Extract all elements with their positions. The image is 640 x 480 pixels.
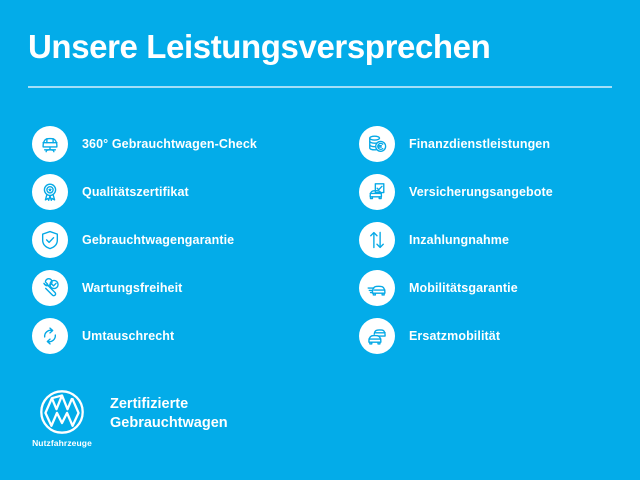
promise-column-left: 360° Gebrauchtwagen-Check Qualitätszerti…	[32, 124, 332, 364]
promise-item-360-check[interactable]: 360° Gebrauchtwagen-Check	[32, 124, 332, 164]
promise-label: 360° Gebrauchtwagen-Check	[82, 137, 257, 151]
vw-logo	[39, 389, 85, 435]
promise-item-maintenance-free[interactable]: Wartungsfreiheit	[32, 268, 332, 308]
title-divider	[28, 86, 612, 88]
promise-item-mobility-guarantee[interactable]: Mobilitätsgarantie	[359, 268, 629, 308]
promise-item-trade-in[interactable]: Inzahlungnahme	[359, 220, 629, 260]
car-speed-icon	[359, 270, 395, 306]
wrench-check-icon	[32, 270, 68, 306]
exchange-arrows-icon	[32, 318, 68, 354]
promise-label: Finanzdienstleistungen	[409, 137, 550, 151]
promise-label: Umtauschrecht	[82, 329, 174, 343]
promise-column-right: Finanzdienstleistungen Versicherungsange…	[359, 124, 629, 364]
promise-item-exchange-right[interactable]: Umtauschrecht	[32, 316, 332, 356]
coins-euro-icon	[359, 126, 395, 162]
shield-check-icon	[32, 222, 68, 258]
two-cars-icon	[359, 318, 395, 354]
promise-label: Qualitätszertifikat	[82, 185, 189, 199]
promise-item-financial-services[interactable]: Finanzdienstleistungen	[359, 124, 629, 164]
promise-item-replacement-mobility[interactable]: Ersatzmobilität	[359, 316, 629, 356]
promise-item-warranty[interactable]: Gebrauchtwagengarantie	[32, 220, 332, 260]
page-title: Unsere Leistungsversprechen	[28, 28, 612, 66]
promise-item-quality-certificate[interactable]: Qualitätszertifikat	[32, 172, 332, 212]
slide-canvas: Unsere Leistungsversprechen 3	[0, 0, 640, 480]
vw-logo-subtitle: Nutzfahrzeuge	[30, 438, 94, 448]
promise-item-insurance-offers[interactable]: Versicherungsangebote	[359, 172, 629, 212]
up-down-arrows-icon	[359, 222, 395, 258]
brand-claim-line-1: Zertifizierte	[110, 395, 228, 414]
brand-lockup: Nutzfahrzeuge Zertifizierte Gebrauchtwag…	[30, 389, 228, 448]
award-rosette-icon	[32, 174, 68, 210]
brand-claim: Zertifizierte Gebrauchtwagen	[110, 395, 228, 443]
promise-label: Wartungsfreiheit	[82, 281, 182, 295]
promise-label: Versicherungsangebote	[409, 185, 553, 199]
car-inspection-icon	[32, 126, 68, 162]
header: Unsere Leistungsversprechen	[28, 28, 612, 66]
promise-label: Gebrauchtwagengarantie	[82, 233, 234, 247]
promise-label: Mobilitätsgarantie	[409, 281, 518, 295]
promise-label: Inzahlungnahme	[409, 233, 509, 247]
brand-claim-line-2: Gebrauchtwagen	[110, 414, 228, 433]
car-document-check-icon	[359, 174, 395, 210]
promise-label: Ersatzmobilität	[409, 329, 500, 343]
vw-logo-block: Nutzfahrzeuge	[30, 389, 94, 448]
